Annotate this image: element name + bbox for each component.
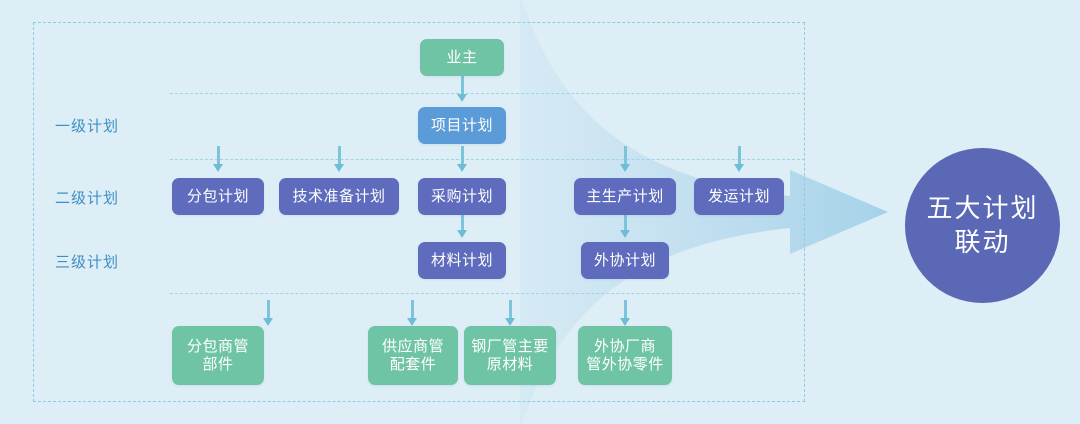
arrow-owner-to-project [455,76,469,102]
node-supplier-parts-line1: 供应商管 [376,338,450,356]
node-master-production-plan[interactable]: 主生产计划 [574,178,676,215]
node-outsourcing-plan[interactable]: 外协计划 [581,242,669,279]
node-material-plan-label: 材料计划 [425,252,499,270]
row-label-level-1: 一级计划 [55,115,119,136]
arrow-to-steel-mill [503,300,517,326]
node-outsource-factory-parts[interactable]: 外协厂商 管外协零件 [578,326,672,385]
diagram-canvas: 一级计划 二级计划 三级计划 业主 项目计划 分 [0,0,1080,424]
node-steel-mill-material[interactable]: 钢厂管主要 原材料 [464,326,556,385]
row-label-level-3: 三级计划 [55,251,119,272]
node-material-plan[interactable]: 材料计划 [418,242,506,279]
node-tech-prep-plan[interactable]: 技术准备计划 [279,178,399,215]
divider-above-suppliers [170,293,805,294]
arrow-procurement-to-material [455,212,469,238]
arrow-project-to-subcontract [211,146,225,172]
node-outsourcing-plan-label: 外协计划 [588,252,662,270]
node-subcontractor-parts-line1: 分包商管 [181,338,255,356]
node-subcontract-plan-label: 分包计划 [181,188,255,206]
node-shipping-plan-label: 发运计划 [702,188,776,206]
node-subcontractor-parts-line2: 部件 [196,356,239,374]
node-master-production-plan-label: 主生产计划 [580,188,670,206]
node-owner-label: 业主 [440,49,483,67]
arrow-master-production-to-outsourcing [618,212,632,238]
node-project-plan-label: 项目计划 [425,117,499,135]
node-steel-mill-material-line2: 原材料 [481,356,540,374]
arrow-to-subcontractor-parts [261,300,275,326]
node-owner[interactable]: 业主 [420,39,504,76]
arrow-to-outsource-factory [618,300,632,326]
node-tech-prep-plan-label: 技术准备计划 [286,188,391,206]
node-subcontractor-parts[interactable]: 分包商管 部件 [172,326,264,385]
divider-above-level2 [170,159,805,160]
arrow-project-to-procurement [455,146,469,172]
node-outsource-factory-parts-line2: 管外协零件 [580,356,670,374]
row-label-level-2: 二级计划 [55,187,119,208]
result-circle-line2: 联动 [926,226,1038,260]
result-circle[interactable]: 五大计划 联动 [905,148,1060,303]
node-procurement-plan-label: 采购计划 [425,188,499,206]
node-supplier-parts-line2: 配套件 [384,356,443,374]
node-subcontract-plan[interactable]: 分包计划 [172,178,264,215]
arrow-to-supplier-parts [405,300,419,326]
arrow-project-to-shipping [732,146,746,172]
arrow-project-to-master-production [618,146,632,172]
node-procurement-plan[interactable]: 采购计划 [418,178,506,215]
node-outsource-factory-parts-line1: 外协厂商 [588,338,662,356]
arrow-project-to-techprep [332,146,346,172]
node-project-plan[interactable]: 项目计划 [418,107,506,144]
divider-above-level1 [170,93,805,94]
node-steel-mill-material-line1: 钢厂管主要 [465,338,555,356]
node-shipping-plan[interactable]: 发运计划 [694,178,784,215]
result-circle-line1: 五大计划 [926,192,1038,226]
node-supplier-parts[interactable]: 供应商管 配套件 [368,326,458,385]
